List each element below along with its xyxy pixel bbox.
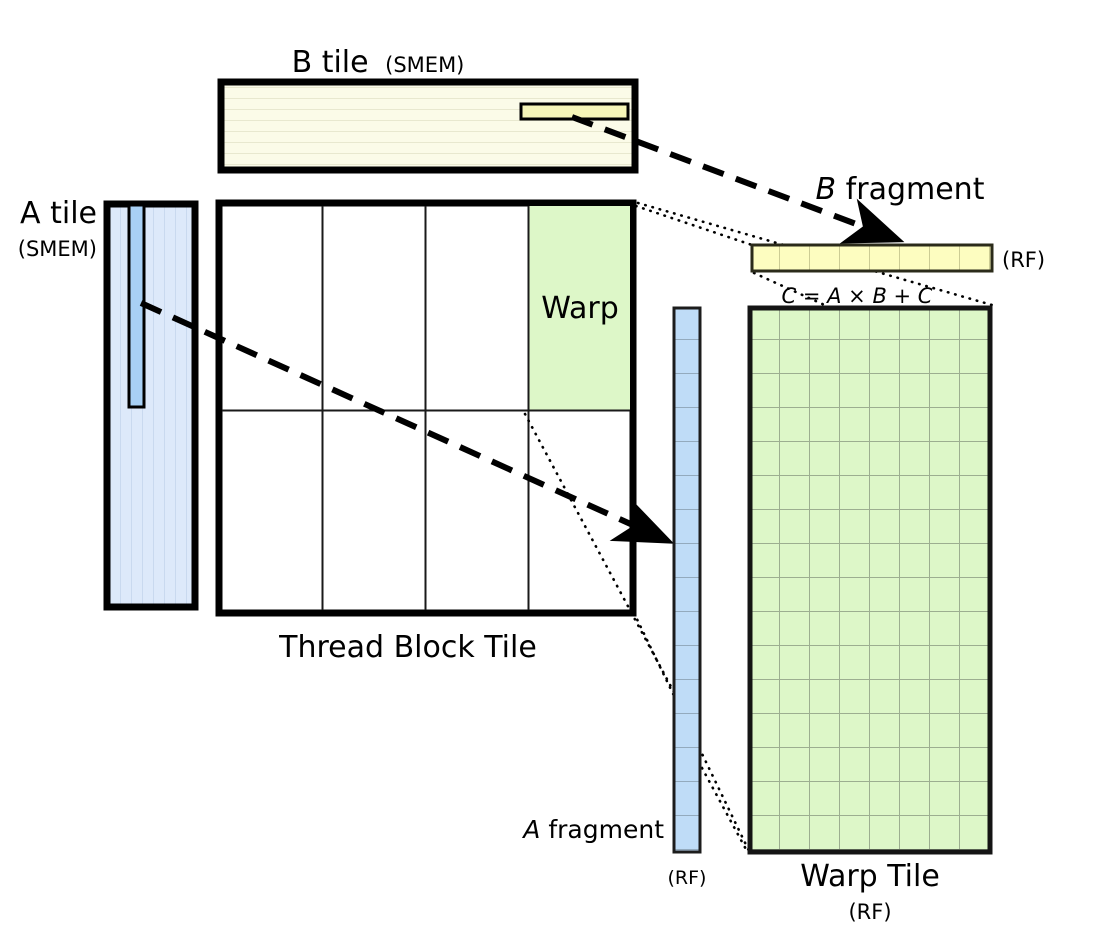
warp-tile-rect [750,308,990,852]
a-tile-label: A tile [20,196,97,231]
gemm-tiling-diagram: B tile (SMEM) A tile (SMEM) Wa [0,0,1101,937]
a-fragment-label: A fragment [521,815,664,844]
b-fragment-rect [752,245,992,271]
b-fragment-label: B fragment [816,172,985,207]
b-tile-smem-rect [221,82,635,170]
b-tile-label-main: B tile [292,45,369,80]
a-fragment-rf-label: (RF) [668,867,707,889]
a-fragment-label-rest: fragment [548,815,664,844]
warp-tile-rf-label: (RF) [848,900,891,924]
b-fragment-rf-label: (RF) [1002,248,1045,272]
warp-cell-label: Warp [541,291,619,326]
thread-block-tile-label: Thread Block Tile [278,630,537,665]
a-tile-label-mem: (SMEM) [18,237,97,261]
diagram-canvas: B tile (SMEM) A tile (SMEM) Wa [0,0,1101,937]
warp-tile-block: C = A × B + C Warp Tile (RF) [750,284,990,924]
a-fragment-label-symbol: A [521,815,540,844]
b-fragment-label-rest: fragment [846,172,985,207]
warp-tile-label: Warp Tile [800,859,940,894]
a-fragment-rect [674,308,700,852]
b-fragment-label-symbol: B [816,172,837,207]
mma-equation-label: C = A × B + C [782,284,933,308]
a-tile-smem-rect [107,204,195,607]
b-tile-label-mem: (SMEM) [385,53,464,77]
thread-block-tile-block: Warp Thread Block Tile [219,203,633,665]
